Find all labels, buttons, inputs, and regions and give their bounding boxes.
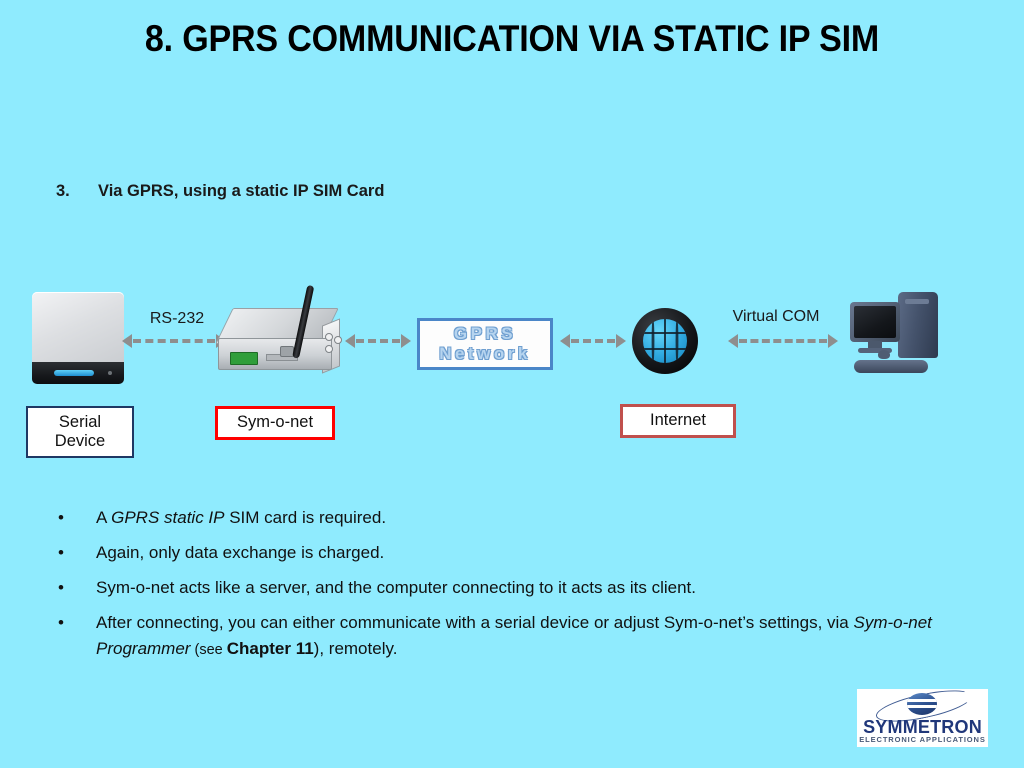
- caption-serial-line2: Device: [55, 432, 105, 451]
- bullet-text: Sym-o-net acts like a server, and the co…: [96, 575, 958, 600]
- globe-meridian: [664, 319, 666, 363]
- symmetron-logo: SYMMETRON ELECTRONIC APPLICATIONS: [857, 689, 988, 747]
- computer-screen: [854, 306, 896, 338]
- bullet-marker: •: [58, 505, 96, 530]
- globe-meridian: [676, 319, 679, 363]
- bullet-run: After connecting, you can either communi…: [96, 613, 854, 632]
- arrow-line: [739, 339, 827, 343]
- network-diagram: RS-232 GPRS Network: [0, 280, 1024, 470]
- computer-keyboard-icon: [854, 360, 928, 373]
- caption-serial-line1: Serial: [55, 413, 105, 432]
- drive-body: [32, 292, 124, 368]
- arrow-gprs-internet: [560, 332, 626, 350]
- bullet-run: A: [96, 508, 111, 527]
- arrow-symonet-gprs: [345, 332, 411, 350]
- caption-serial-device: Serial Device: [26, 406, 134, 458]
- subheading-number: 3.: [56, 182, 98, 201]
- computer-drive-bay: [905, 299, 929, 304]
- external-drive-icon: [32, 292, 124, 384]
- list-item: •Again, only data exchange is charged.: [58, 540, 958, 565]
- bullet-list: •A GPRS static IP SIM card is required.•…: [58, 505, 958, 671]
- caption-sym-o-net: Sym-o-net: [215, 406, 335, 440]
- computer-monitor: [850, 302, 900, 342]
- gprs-network-label-line2: Network: [439, 344, 531, 364]
- arrow-virtual-com: [728, 332, 838, 350]
- logo-tagline: ELECTRONIC APPLICATIONS: [857, 735, 988, 744]
- bullet-run: Sym-o-net acts like a server, and the co…: [96, 578, 696, 597]
- arrow-rs232: [122, 332, 226, 350]
- computer-mouse-icon: [878, 350, 890, 359]
- subheading-text: Via GPRS, using a static IP SIM Card: [98, 182, 384, 200]
- arrow-head-left-icon: [122, 334, 132, 348]
- logo-orb-graphic: [857, 690, 988, 720]
- arrow-head-right-icon: [401, 334, 411, 348]
- bullet-run: SIM card is required.: [225, 508, 387, 527]
- gateway-terminal-block: [230, 352, 258, 365]
- drive-indicator-dot: [108, 371, 112, 375]
- bullet-run: GPRS static IP: [111, 508, 224, 527]
- logo-orb-stripe: [907, 705, 937, 708]
- arrow-head-left-icon: [728, 334, 738, 348]
- bullet-run: Again, only data exchange is charged.: [96, 543, 384, 562]
- arrow-head-right-icon: [828, 334, 838, 348]
- gateway-connector-icon: [325, 333, 333, 341]
- list-item: •Sym-o-net acts like a server, and the c…: [58, 575, 958, 600]
- gateway-connector-icon: [325, 345, 333, 353]
- arrow-line: [133, 339, 215, 343]
- subheading: 3.Via GPRS, using a static IP SIM Card: [56, 182, 384, 201]
- logo-orb-stripe: [907, 699, 937, 702]
- caption-internet: Internet: [620, 404, 736, 438]
- globe-meridian: [652, 319, 655, 363]
- gateway-connector-icon: [334, 336, 342, 344]
- arrow-label-rs232: RS-232: [140, 310, 214, 328]
- bullet-text: Again, only data exchange is charged.: [96, 540, 958, 565]
- bullet-run: ), remotely.: [314, 639, 398, 658]
- globe-icon: [632, 308, 698, 374]
- computer-tower: [898, 292, 938, 358]
- gprs-network-box: GPRS Network: [417, 318, 553, 370]
- list-item: •After connecting, you can either commun…: [58, 610, 958, 661]
- bullet-marker: •: [58, 610, 96, 635]
- bullet-run: (see: [190, 642, 226, 658]
- bullet-marker: •: [58, 540, 96, 565]
- bullet-text: A GPRS static IP SIM card is required.: [96, 505, 958, 530]
- drive-led: [54, 370, 94, 376]
- arrow-head-left-icon: [345, 334, 355, 348]
- gateway-device-icon: [218, 302, 338, 386]
- globe-parallel: [643, 332, 687, 334]
- globe-parallel: [643, 348, 687, 350]
- desktop-computer-icon: [848, 292, 946, 380]
- bullet-text: After connecting, you can either communi…: [96, 610, 958, 661]
- bullet-run: Chapter 11: [227, 639, 314, 658]
- arrow-head-right-icon: [616, 334, 626, 348]
- globe-sphere: [643, 319, 687, 363]
- logo-orb: [907, 693, 937, 715]
- bullet-marker: •: [58, 575, 96, 600]
- gprs-network-label-line1: GPRS: [454, 324, 516, 344]
- page-title: 8. GPRS COMMUNICATION VIA STATIC IP SIM: [41, 18, 983, 60]
- list-item: •A GPRS static IP SIM card is required.: [58, 505, 958, 530]
- arrow-head-left-icon: [560, 334, 570, 348]
- arrow-line: [356, 339, 400, 343]
- arrow-line: [571, 339, 615, 343]
- arrow-label-virtual-com: Virtual COM: [716, 308, 836, 326]
